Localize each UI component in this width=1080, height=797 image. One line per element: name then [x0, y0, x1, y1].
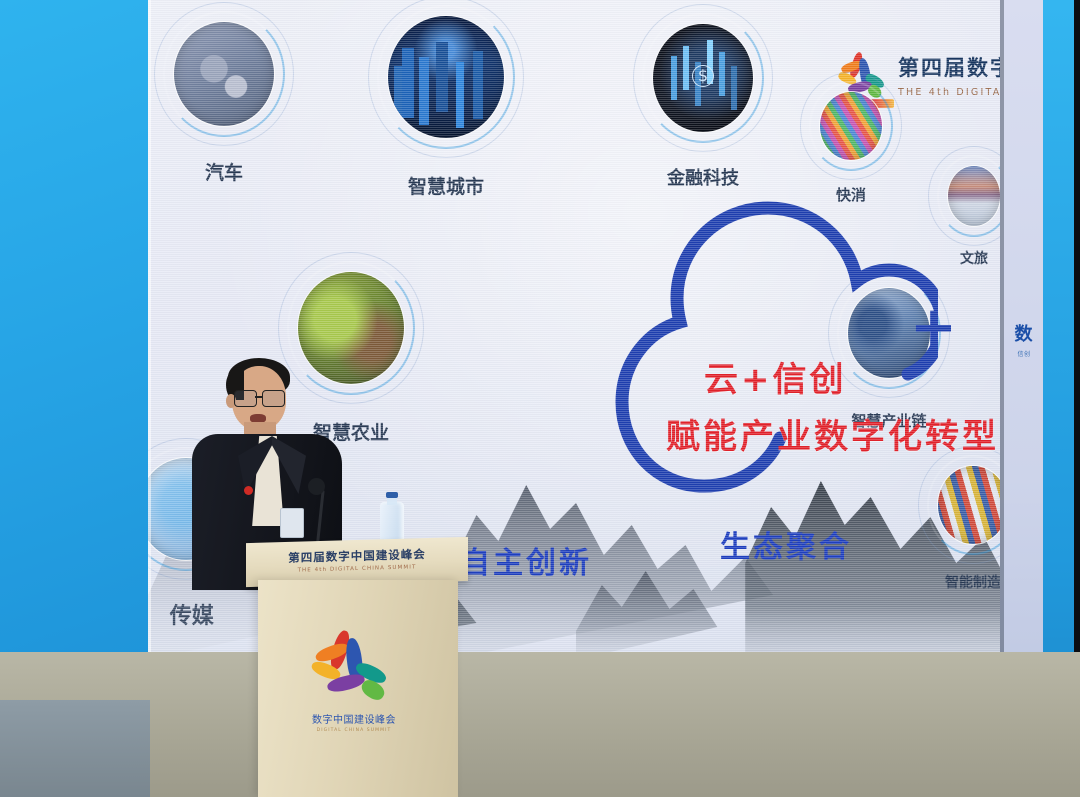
headline-line-2: 赋能产业数字化转型 [666, 409, 999, 458]
podium-banner-en: THE 4th DIGITAL CHINA SUMMIT [298, 564, 417, 573]
node-automotive-label: 汽车 [205, 158, 243, 185]
podium-logo: 数字中国建设峰会 DIGITAL CHINA SUMMIT [306, 630, 402, 740]
podium-banner-cn: 第四届数字中国建设峰会 [288, 546, 426, 566]
stage-floor [0, 652, 1080, 797]
left-wall-panel [0, 0, 150, 700]
node-media-label: 传媒 [170, 598, 214, 630]
summit-title-en: THE 4th DIGITAL CHINA SUMMIT [898, 87, 1004, 98]
node-intelligent-manufacturing: 智能制造 [938, 466, 1004, 544]
node-intelligent-manufacturing-label: 智能制造 [945, 572, 1001, 592]
conference-photo-scene: 第四届数字中国建设峰会 THE 4th DIGITAL CHINA SUMMIT… [0, 0, 1080, 797]
slogan-independent-innovation: 自主创新 [460, 538, 592, 582]
summit-title-cn: 第四届数字中国建设峰会 [898, 52, 1004, 82]
slogan-ecosystem-aggregation: 生态聚合 [720, 522, 852, 566]
right-panel-title: 数 [1006, 320, 1042, 346]
podium-banner: 第四届数字中国建设峰会 THE 4th DIGITAL CHINA SUMMIT [248, 539, 466, 581]
node-culture-tourism-label: 文旅 [960, 248, 988, 268]
screen-left-edge [148, 0, 151, 660]
podium-calligraphy-logo-icon [311, 630, 397, 708]
node-smart-city: 智慧城市 [388, 16, 504, 138]
node-fintech-label: 金融科技 [667, 164, 739, 190]
node-smart-city-label: 智慧城市 [408, 172, 484, 199]
speaker-glasses [234, 390, 286, 405]
slide-headline: 云+信创 赋能产业数字化转型 [704, 352, 999, 458]
microphone-icon [308, 478, 325, 495]
podium-logo-text-cn: 数字中国建设峰会 [306, 711, 402, 726]
node-culture-tourism: 文旅 [948, 166, 1000, 226]
stage-floor-left [0, 700, 150, 797]
right-panel-subtitle: 信创 [1006, 349, 1042, 358]
plus-symbol: + [910, 300, 957, 356]
node-fmcg: 快消 [820, 92, 882, 160]
right-panel-text: 数 信创 [1006, 320, 1042, 358]
speaker-name-badge [280, 508, 304, 538]
speaker-lapel-pin [244, 486, 253, 495]
node-fintech: 金融科技 [653, 24, 753, 132]
podium-logo-text-en: DIGITAL CHINA SUMMIT [306, 728, 402, 733]
headline-line-1: 云+信创 [704, 352, 999, 401]
node-automotive: 汽车 [174, 22, 274, 126]
